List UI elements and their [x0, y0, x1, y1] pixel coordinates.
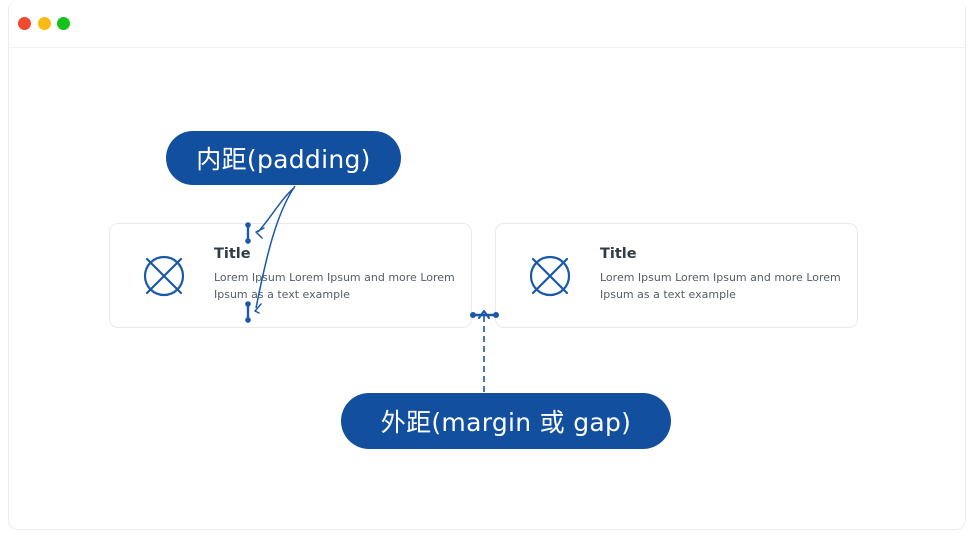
minimize-window-button[interactable]: [38, 17, 51, 30]
maximize-window-button[interactable]: [57, 17, 70, 30]
card-title: Title: [214, 247, 455, 263]
feature-card-left[interactable]: Title Lorem Ipsum Lorem Ipsum and more L…: [109, 223, 472, 328]
padding-annotation-pill[interactable]: 内距(padding): [166, 131, 401, 185]
card-description: Lorem Ipsum Lorem Ipsum and more Lorem I…: [214, 269, 455, 303]
margin-annotation-pill[interactable]: 外距(margin 或 gap): [341, 393, 671, 449]
card-title: Title: [600, 247, 841, 263]
close-window-button[interactable]: [18, 17, 31, 30]
card-body: Title Lorem Ipsum Lorem Ipsum and more L…: [600, 247, 857, 303]
circle-x-icon: [522, 248, 578, 304]
page-canvas: Title Lorem Ipsum Lorem Ipsum and more L…: [9, 48, 965, 530]
card-body: Title Lorem Ipsum Lorem Ipsum and more L…: [214, 247, 471, 303]
screenshot-root: Title Lorem Ipsum Lorem Ipsum and more L…: [0, 0, 974, 538]
padding-annotation-label: 内距(padding): [196, 140, 370, 176]
feature-card-right[interactable]: Title Lorem Ipsum Lorem Ipsum and more L…: [495, 223, 858, 328]
card-description: Lorem Ipsum Lorem Ipsum and more Lorem I…: [600, 269, 841, 303]
margin-annotation-label: 外距(margin 或 gap): [381, 403, 631, 439]
browser-window: Title Lorem Ipsum Lorem Ipsum and more L…: [8, 0, 966, 530]
circle-x-icon: [136, 248, 192, 304]
window-titlebar: [9, 0, 965, 48]
